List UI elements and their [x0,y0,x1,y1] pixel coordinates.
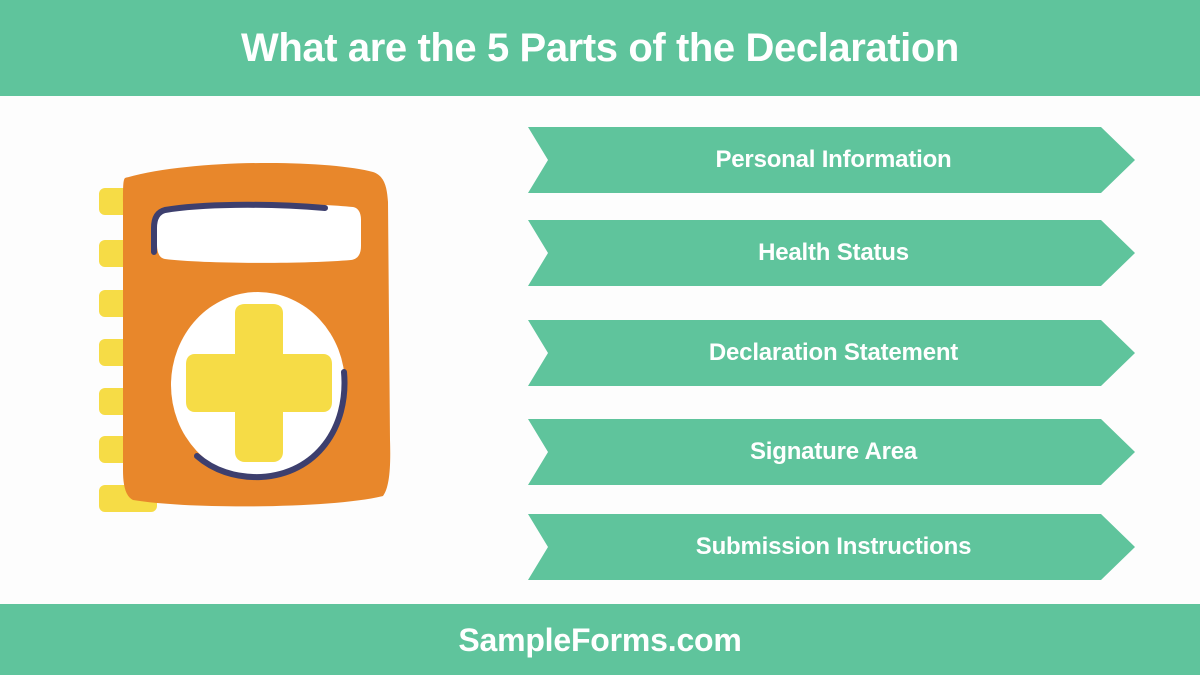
part-banner-1[interactable]: Personal Information [528,127,1135,193]
page-title: What are the 5 Parts of the Declaration [241,28,959,68]
parts-list: Personal Information Health Status Decla… [528,127,1138,582]
part-label-2: Health Status [746,241,917,265]
part-label-5: Submission Instructions [684,535,979,559]
infographic-canvas: What are the 5 Parts of the Declaration [0,0,1200,675]
notebook-label [157,204,361,263]
part-banner-4[interactable]: Signature Area [528,419,1135,485]
notebook-illustration [85,140,415,520]
part-banner-5[interactable]: Submission Instructions [528,514,1135,580]
part-banner-3[interactable]: Declaration Statement [528,320,1135,386]
header-bar: What are the 5 Parts of the Declaration [0,0,1200,96]
notebook-icon [85,140,415,520]
part-label-4: Signature Area [738,440,925,464]
part-label-3: Declaration Statement [697,341,966,365]
part-banner-2[interactable]: Health Status [528,220,1135,286]
footer-bar: SampleForms.com [0,604,1200,675]
part-label-1: Personal Information [703,148,959,172]
brand-name: SampleForms.com [458,624,741,656]
